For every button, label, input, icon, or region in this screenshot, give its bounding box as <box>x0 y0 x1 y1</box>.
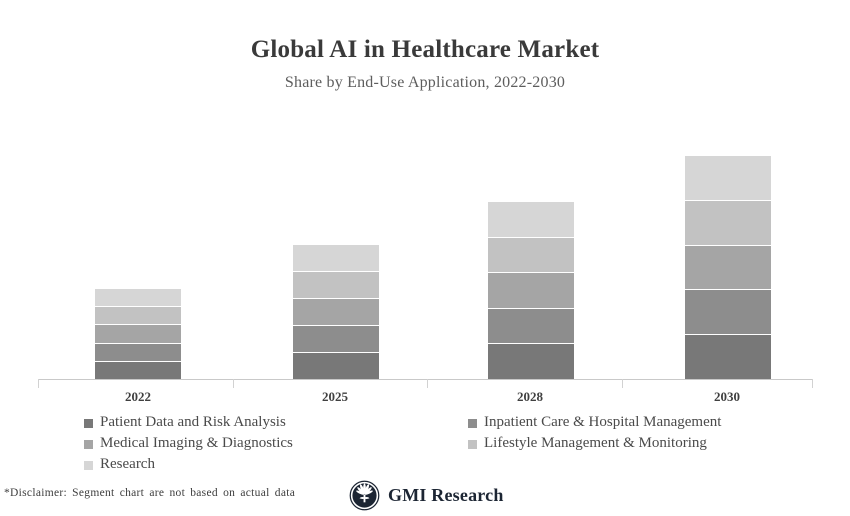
legend-item-lifestyle-management[interactable]: Lifestyle Management & Monitoring <box>468 433 721 453</box>
bar-segment[interactable] <box>293 272 379 299</box>
legend-label: Lifestyle Management & Monitoring <box>484 433 707 453</box>
legend-item-research[interactable]: Research <box>84 454 293 474</box>
bar-segment[interactable] <box>95 307 181 325</box>
bar-segment[interactable] <box>293 326 379 353</box>
axis-tick-3 <box>622 379 623 388</box>
brand-logo: GMI Research <box>349 480 504 511</box>
bar-segment[interactable] <box>488 273 574 309</box>
bar-segment[interactable] <box>293 245 379 272</box>
axis-tick-end <box>812 379 813 388</box>
legend-column-left: Patient Data and Risk Analysis Medical I… <box>84 412 293 475</box>
bar-segment[interactable] <box>685 156 771 201</box>
legend-swatch-icon <box>84 440 93 449</box>
x-axis-line <box>38 379 812 380</box>
legend-swatch-icon <box>468 440 477 449</box>
bar-segment[interactable] <box>293 353 379 380</box>
bar-segment[interactable] <box>488 238 574 274</box>
x-label-2028: 2028 <box>470 389 590 405</box>
bar-segment[interactable] <box>95 344 181 362</box>
axis-tick-2 <box>427 379 428 388</box>
bar-segment[interactable] <box>685 201 771 246</box>
axis-tick-start <box>38 379 39 388</box>
bar-segment[interactable] <box>685 335 771 380</box>
legend-column-right: Inpatient Care & Hospital Management Lif… <box>468 412 721 454</box>
legend-swatch-icon <box>468 419 477 428</box>
bar-2025[interactable] <box>293 245 379 380</box>
legend-label: Medical Imaging & Diagnostics <box>100 433 293 453</box>
bar-segment[interactable] <box>488 202 574 238</box>
bar-segment[interactable] <box>685 290 771 335</box>
bar-2028[interactable] <box>488 202 574 380</box>
bar-2030[interactable] <box>685 156 771 380</box>
bar-segment[interactable] <box>488 309 574 345</box>
chart-subtitle: Share by End-Use Application, 2022-2030 <box>0 74 850 92</box>
bar-segment[interactable] <box>95 289 181 307</box>
disclaimer-text: *Disclaimer: Segment chart are not based… <box>4 487 295 499</box>
chart-title: Global AI in Healthcare Market <box>0 36 850 64</box>
legend-item-patient-data[interactable]: Patient Data and Risk Analysis <box>84 412 293 432</box>
legend-swatch-icon <box>84 461 93 470</box>
bar-segment[interactable] <box>488 344 574 380</box>
x-label-2025: 2025 <box>275 389 395 405</box>
legend-label: Research <box>100 454 155 474</box>
bar-segment[interactable] <box>293 299 379 326</box>
bar-segment[interactable] <box>95 362 181 380</box>
legend-label: Inpatient Care & Hospital Management <box>484 412 721 432</box>
bar-2022[interactable] <box>95 289 181 380</box>
plot-area <box>0 100 850 380</box>
legend-swatch-icon <box>84 419 93 428</box>
brand-name: GMI Research <box>388 480 504 511</box>
legend-item-medical-imaging[interactable]: Medical Imaging & Diagnostics <box>84 433 293 453</box>
legend-label: Patient Data and Risk Analysis <box>100 412 286 432</box>
chart-legend: Patient Data and Risk Analysis Medical I… <box>0 412 850 474</box>
bar-segment[interactable] <box>685 246 771 291</box>
x-label-2030: 2030 <box>667 389 787 405</box>
axis-tick-1 <box>233 379 234 388</box>
gmi-palm-emblem-icon <box>349 480 380 511</box>
bar-segment[interactable] <box>95 325 181 343</box>
x-label-2022: 2022 <box>78 389 198 405</box>
chart-container: Global AI in Healthcare Market Share by … <box>0 0 850 516</box>
legend-item-inpatient-care[interactable]: Inpatient Care & Hospital Management <box>468 412 721 432</box>
